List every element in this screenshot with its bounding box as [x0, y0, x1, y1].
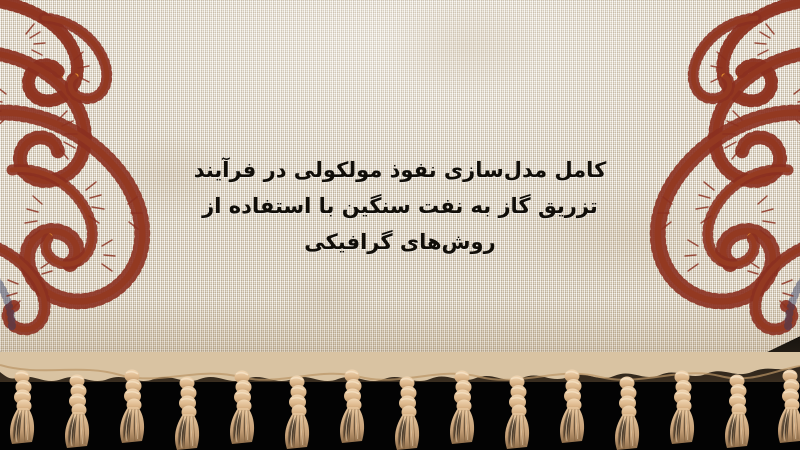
tassel-fringe — [0, 352, 800, 450]
title-line-1: کامل مدل‌سازی نفوذ مولکولی در فرآیند — [150, 152, 650, 188]
slide-title: کامل مدل‌سازی نفوذ مولکولی در فرآیند تزر… — [150, 152, 650, 260]
title-line-3: روش‌های گرافیکی — [150, 224, 650, 260]
title-slide: کامل مدل‌سازی نفوذ مولکولی در فرآیند تزر… — [0, 0, 800, 450]
title-line-2: تزریق گاز به نفت سنگین با استفاده از — [150, 188, 650, 224]
